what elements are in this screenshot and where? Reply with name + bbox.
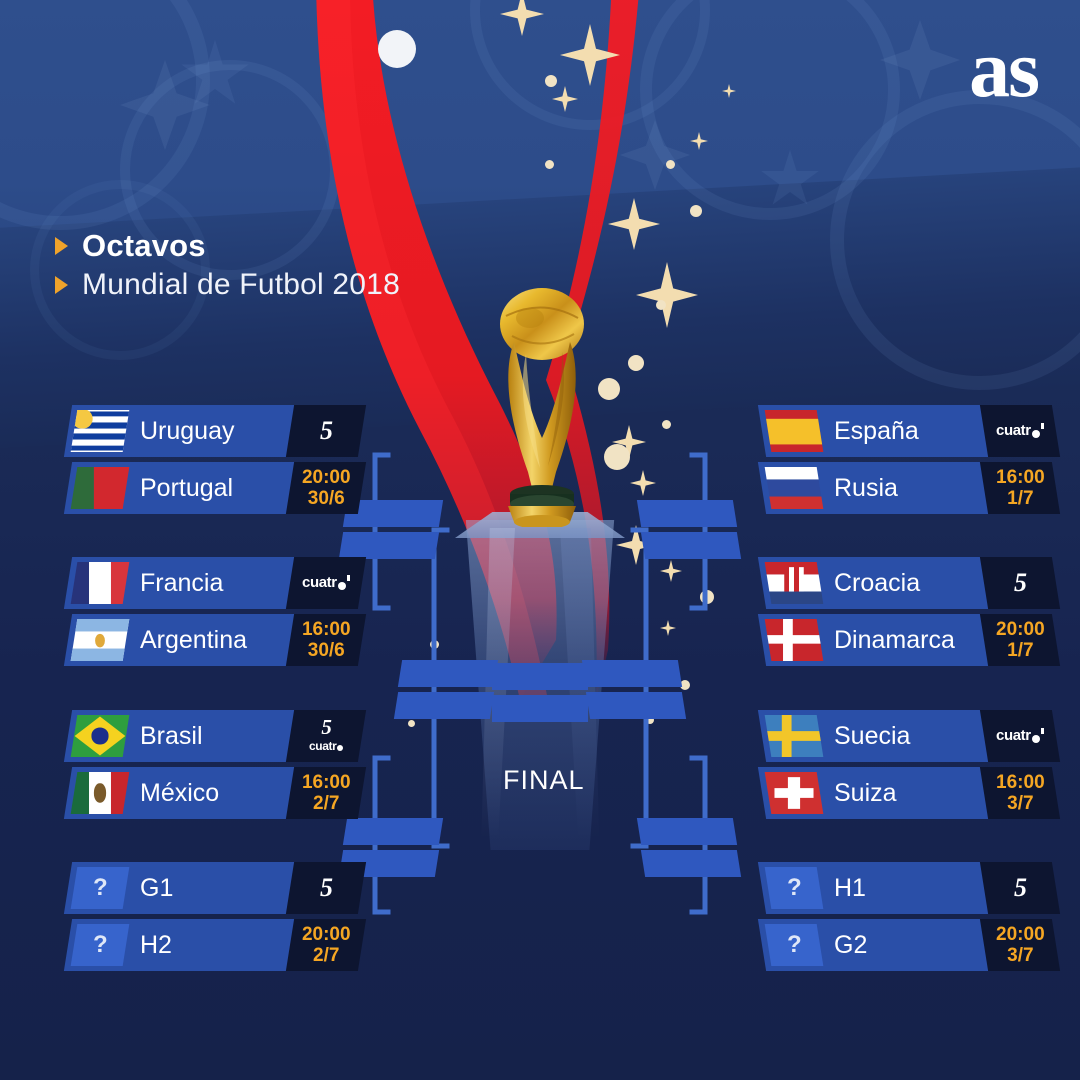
team-name: Uruguay (140, 405, 235, 457)
match-row-bottom[interactable]: Rusia 16:00 1/7 (762, 462, 1027, 514)
match-row-top[interactable]: Uruguay 5 (68, 405, 333, 457)
placeholder-question-mark: ? (93, 931, 108, 959)
kickoff-panel: 16:00 3/7 (980, 767, 1060, 819)
match-row-top[interactable]: ? G1 5 (68, 862, 333, 914)
final-slot-bottom (492, 695, 588, 722)
flag-placeholder: ? (71, 867, 130, 909)
team-name: España (834, 405, 919, 457)
kickoff-time: 20:00 (996, 619, 1045, 640)
flag-croacia (765, 562, 824, 604)
telecinco-logo-icon: 5 (1014, 568, 1026, 597)
team-name: Portugal (140, 462, 233, 514)
kickoff-date: 30/6 (302, 640, 351, 661)
flag-suecia (765, 715, 824, 757)
match-brasil-mexico[interactable]: Brasil 5 cuatr México 16:00 2/7 (68, 710, 333, 824)
final-slot (492, 663, 588, 727)
team-name: Argentina (140, 614, 247, 666)
telecinco-logo-icon: 5 (1014, 873, 1026, 902)
match-row-bottom[interactable]: México 16:00 2/7 (68, 767, 333, 819)
channel-panel: 5 (286, 862, 366, 914)
cuatro-logo-icon: cuatr (309, 740, 343, 752)
team-name: G1 (140, 862, 173, 914)
infographic-canvas: Octavos Mundial de Futbol 2018 as (0, 0, 1080, 1080)
semifinal-slot-right-bottom (586, 692, 686, 719)
kickoff-panel: 16:00 30/6 (286, 614, 366, 666)
semifinal-slot-left-top (398, 660, 498, 687)
kickoff-date: 2/7 (302, 793, 351, 814)
match-row-top[interactable]: ? H1 5 (762, 862, 1027, 914)
flag-placeholder: ? (765, 924, 824, 966)
semifinal-slot-right-top (582, 660, 682, 687)
flag-placeholder: ? (765, 867, 824, 909)
kickoff-time: 16:00 (996, 772, 1045, 793)
kickoff-time: 16:00 (996, 467, 1045, 488)
match-row-bottom[interactable]: Suiza 16:00 3/7 (762, 767, 1027, 819)
kickoff-panel: 16:00 2/7 (286, 767, 366, 819)
channel-panel: 5 (980, 862, 1060, 914)
final-slot-top (492, 663, 588, 690)
flag-mexico (71, 772, 130, 814)
quarterfinal-slot-right-1-bottom (641, 532, 741, 559)
match-row-top[interactable]: España cuatr (762, 405, 1027, 457)
semifinal-slot-left-bottom (394, 692, 494, 719)
quarterfinal-slot-right-1-top (637, 500, 737, 527)
cuatro-logo-icon: cuatr (996, 728, 1044, 743)
kickoff-date: 2/7 (302, 945, 351, 966)
quarterfinal-slot-left-2-top (343, 818, 443, 845)
channel-panel: 5 (980, 557, 1060, 609)
team-name: Francia (140, 557, 223, 609)
flag-argentina (71, 619, 130, 661)
placeholder-question-mark: ? (787, 874, 802, 902)
match-croacia-dinamarca[interactable]: Croacia 5 Dinamarca 20:00 1/7 (762, 557, 1027, 671)
final-label: FINAL (503, 765, 585, 796)
match-suecia-suiza[interactable]: Suecia cuatr Suiza 16:00 3/7 (762, 710, 1027, 824)
flag-france (71, 562, 130, 604)
channel-panel: cuatr (286, 557, 366, 609)
channel-panel: 5 (286, 405, 366, 457)
kickoff-date: 3/7 (996, 793, 1045, 814)
match-row-bottom[interactable]: ? H2 20:00 2/7 (68, 919, 333, 971)
flag-espana (765, 410, 824, 452)
match-h1-g2[interactable]: ? H1 5 ? G2 20:00 3/7 (762, 862, 1027, 976)
flag-rusia (765, 467, 824, 509)
match-row-top[interactable]: Croacia 5 (762, 557, 1027, 609)
match-espana-rusia[interactable]: España cuatr Rusia 16:00 1/7 (762, 405, 1027, 519)
match-row-top[interactable]: Francia cuatr (68, 557, 333, 609)
match-row-bottom[interactable]: Dinamarca 20:00 1/7 (762, 614, 1027, 666)
match-row-top[interactable]: Brasil 5 cuatr (68, 710, 333, 762)
kickoff-date: 30/6 (302, 488, 351, 509)
kickoff-time: 20:00 (302, 467, 351, 488)
kickoff-date: 1/7 (996, 640, 1045, 661)
team-name: México (140, 767, 219, 819)
flag-dinamarca (765, 619, 824, 661)
flag-brasil (71, 715, 130, 757)
channel-panel: 5 cuatr (286, 710, 366, 762)
channel-panel: cuatr (980, 405, 1060, 457)
placeholder-question-mark: ? (93, 874, 108, 902)
flag-placeholder: ? (71, 924, 130, 966)
team-name: G2 (834, 919, 867, 971)
telecinco-logo-icon: 5 (320, 416, 332, 445)
flag-uruguay (71, 410, 130, 452)
kickoff-time: 16:00 (302, 772, 351, 793)
team-name: Suecia (834, 710, 910, 762)
telecinco-logo-icon: 5 (320, 873, 332, 902)
quarterfinal-slot-left-1-bottom (339, 532, 439, 559)
kickoff-time: 16:00 (302, 619, 351, 640)
cuatro-logo-icon: cuatr (996, 423, 1044, 438)
quarterfinal-slot-right-2-bottom (641, 850, 741, 877)
team-name: Rusia (834, 462, 898, 514)
match-uruguay-portugal[interactable]: Uruguay 5 Portugal 20:00 30/6 (68, 405, 333, 519)
match-row-top[interactable]: Suecia cuatr (762, 710, 1027, 762)
match-row-bottom[interactable]: Portugal 20:00 30/6 (68, 462, 333, 514)
kickoff-panel: 16:00 1/7 (980, 462, 1060, 514)
kickoff-time: 20:00 (302, 924, 351, 945)
kickoff-panel: 20:00 1/7 (980, 614, 1060, 666)
quarterfinal-slot-right-2-top (637, 818, 737, 845)
match-row-bottom[interactable]: Argentina 16:00 30/6 (68, 614, 333, 666)
match-francia-argentina[interactable]: Francia cuatr Argentina 16:00 30/6 (68, 557, 333, 671)
match-row-bottom[interactable]: ? G2 20:00 3/7 (762, 919, 1027, 971)
kickoff-time: 20:00 (996, 924, 1045, 945)
team-name: H1 (834, 862, 866, 914)
kickoff-date: 3/7 (996, 945, 1045, 966)
placeholder-question-mark: ? (787, 931, 802, 959)
telecinco-logo-icon: 5 (321, 715, 331, 739)
kickoff-panel: 20:00 30/6 (286, 462, 366, 514)
kickoff-panel: 20:00 3/7 (980, 919, 1060, 971)
kickoff-date: 1/7 (996, 488, 1045, 509)
team-name: Croacia (834, 557, 920, 609)
team-name: Dinamarca (834, 614, 955, 666)
team-name: H2 (140, 919, 172, 971)
match-g1-h2[interactable]: ? G1 5 ? H2 20:00 2/7 (68, 862, 333, 976)
kickoff-panel: 20:00 2/7 (286, 919, 366, 971)
flag-suiza (765, 772, 824, 814)
team-name: Brasil (140, 710, 203, 762)
flag-portugal (71, 467, 130, 509)
team-name: Suiza (834, 767, 897, 819)
channel-panel: cuatr (980, 710, 1060, 762)
cuatro-logo-icon: cuatr (302, 575, 350, 590)
